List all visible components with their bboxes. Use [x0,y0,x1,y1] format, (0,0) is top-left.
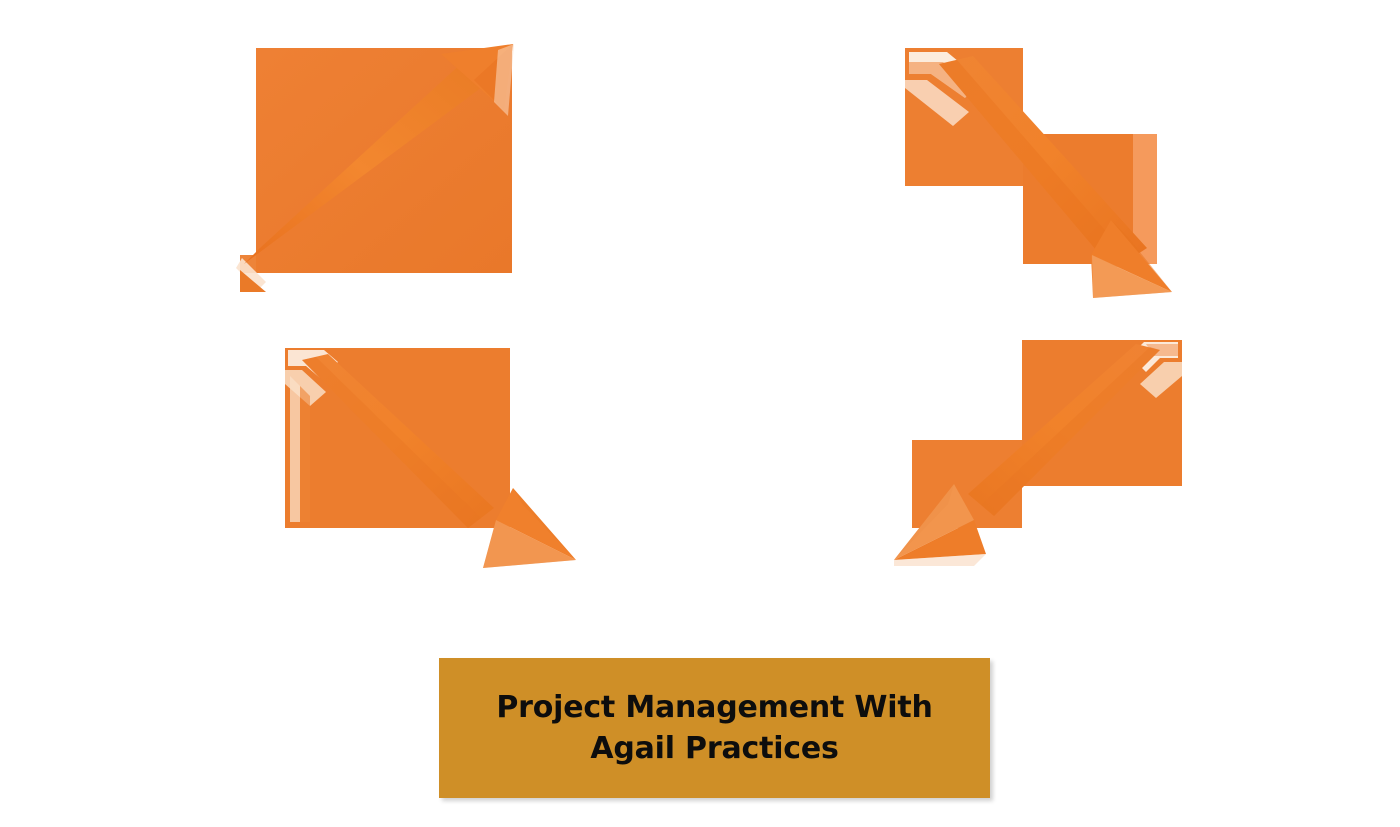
diagram-canvas: Project Management With Agail Practices [0,0,1400,827]
block-shape-upper [1022,340,1182,486]
node-top-left[interactable] [236,40,526,300]
title-box-label: Project Management With Agail Practices [496,687,932,769]
node-top-right[interactable] [895,40,1185,305]
title-box[interactable]: Project Management With Agail Practices [439,658,990,798]
node-bottom-right[interactable] [888,332,1188,572]
node-bottom-left[interactable] [276,340,586,575]
